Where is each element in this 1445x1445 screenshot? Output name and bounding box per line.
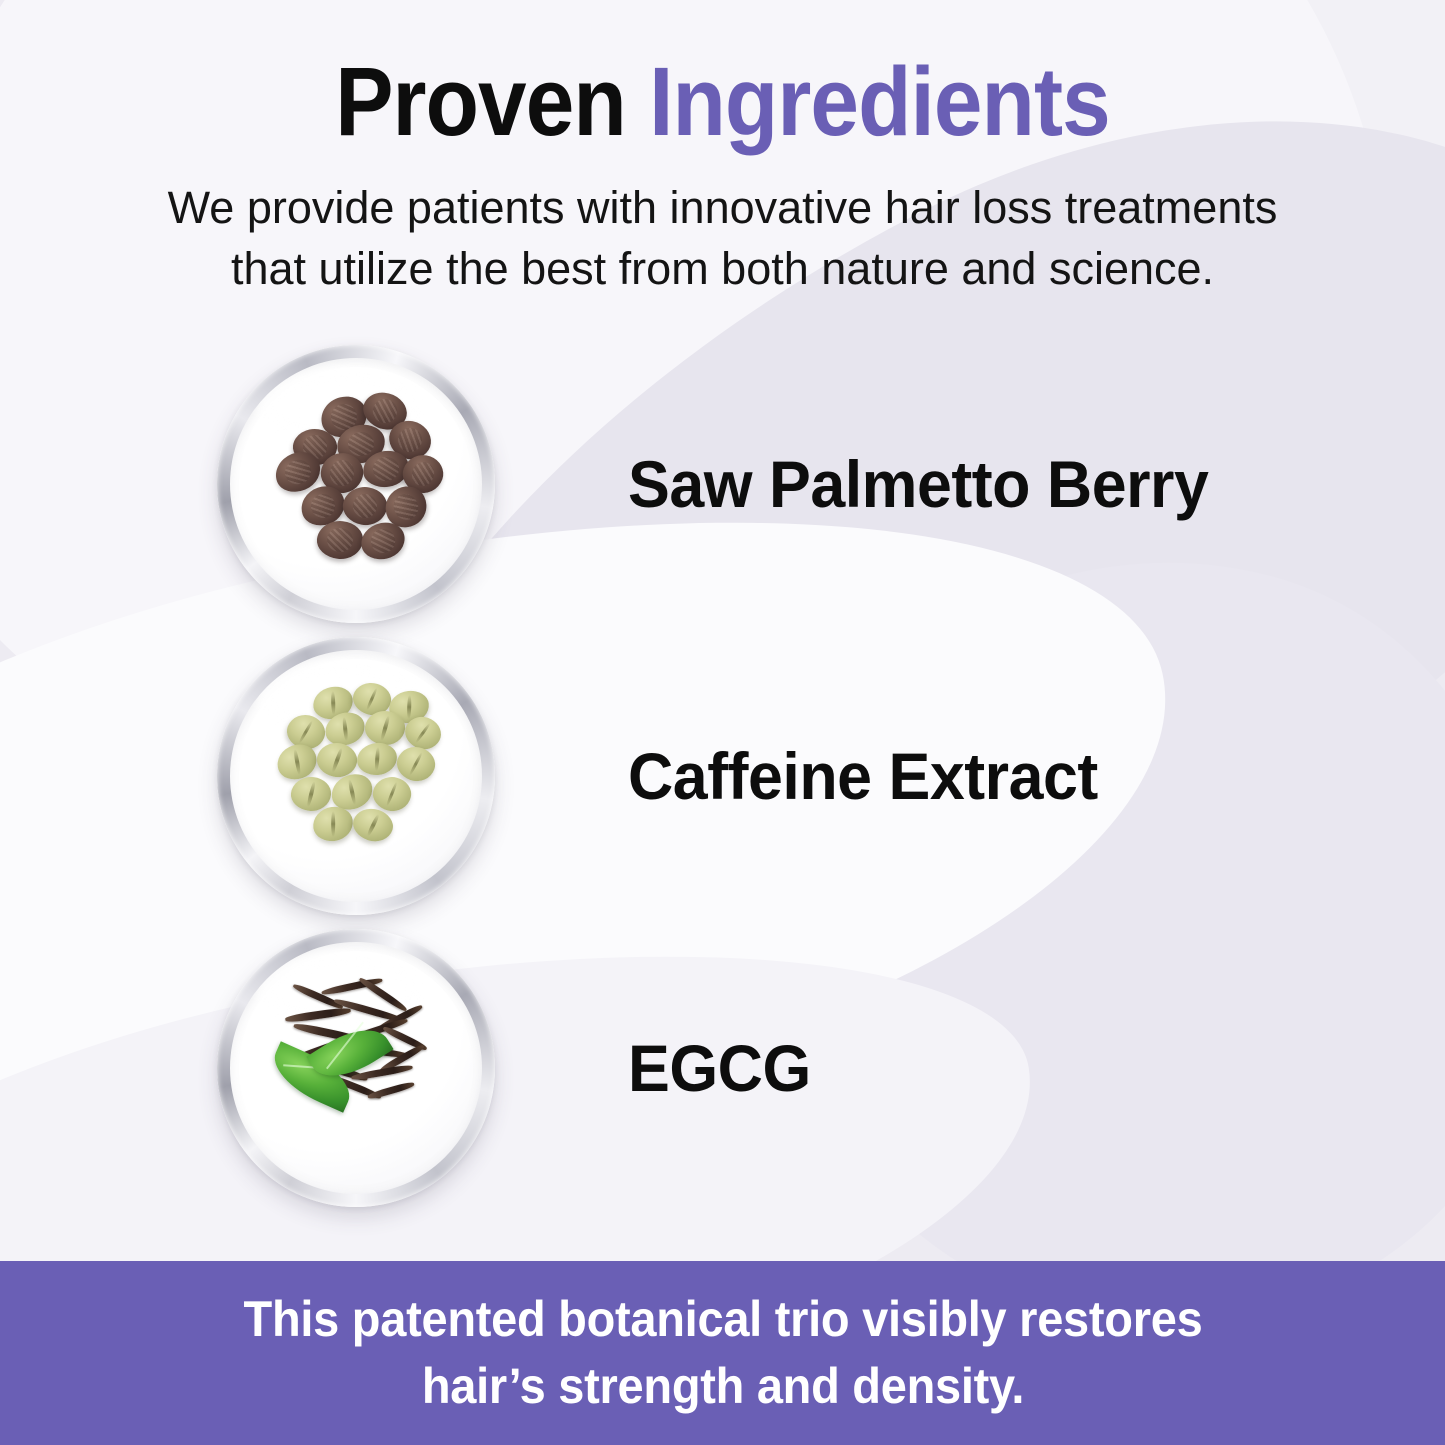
page-subtitle: We provide patients with innovative hair… [143, 177, 1303, 299]
tea-group [217, 929, 495, 1207]
berries-group [217, 345, 495, 623]
footer-banner: This patented botanical trio visibly res… [0, 1261, 1445, 1445]
footer-banner-text: This patented botanical trio visibly res… [191, 1286, 1253, 1420]
petri-dish-green-tea-leaves-icon [212, 923, 502, 1213]
ingredient-list: Saw Palmetto Berry [0, 338, 1445, 1214]
ingredient-label-saw-palmetto: Saw Palmetto Berry [628, 446, 1208, 522]
page-title-part-2: Ingredients [649, 47, 1110, 156]
ingredient-label-egcg: EGCG [628, 1030, 811, 1106]
ingredients-promo-card: Proven Ingredients We provide patients w… [0, 0, 1445, 1445]
beans-group [217, 637, 495, 915]
ingredient-row-saw-palmetto: Saw Palmetto Berry [0, 338, 1445, 630]
ingredient-row-egcg: EGCG [0, 922, 1445, 1214]
page-title-part-1: Proven [335, 47, 649, 156]
page-title: Proven Ingredients [72, 52, 1373, 153]
ingredient-label-caffeine: Caffeine Extract [628, 738, 1098, 814]
ingredient-row-caffeine: Caffeine Extract [0, 630, 1445, 922]
header: Proven Ingredients We provide patients w… [0, 52, 1445, 299]
petri-dish-green-coffee-beans-icon [212, 631, 502, 921]
petri-dish-saw-palmetto-berries-icon [212, 339, 502, 629]
